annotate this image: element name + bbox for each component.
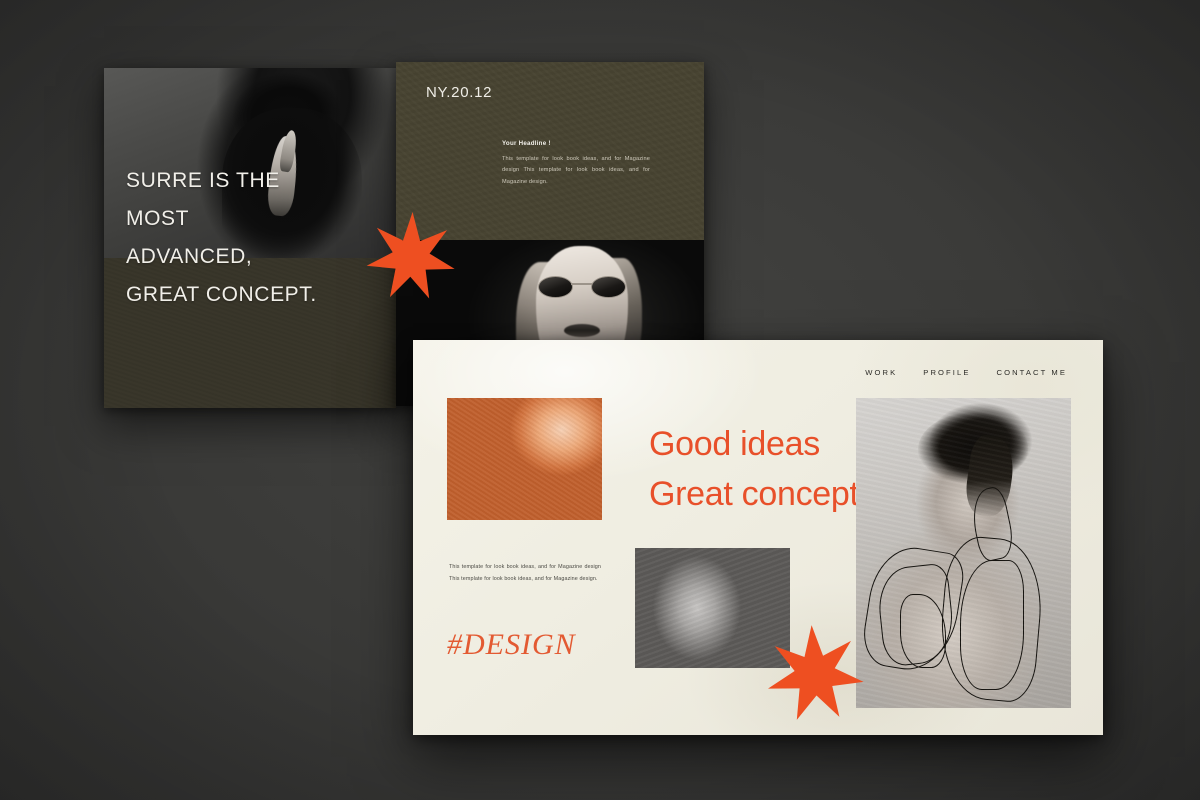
slide-portfolio[interactable]: WORK PROFILE CONTACT ME Good ideas Great… (413, 340, 1103, 735)
top-navigation[interactable]: WORK PROFILE CONTACT ME (865, 368, 1067, 377)
copy-block: Your Headline ! This template for look b… (502, 140, 650, 188)
lens-right (591, 276, 626, 298)
cover-photo (104, 68, 396, 258)
lips-shape (564, 324, 600, 337)
copy-headline: Your Headline ! (502, 140, 650, 147)
portfolio-body-copy: This template for look book ideas, and f… (449, 562, 601, 586)
sunglasses-icon (538, 276, 626, 296)
nav-item-work[interactable]: WORK (865, 368, 897, 377)
body-line-3 (935, 534, 1047, 704)
nav-item-profile[interactable]: PROFILE (923, 368, 970, 377)
lens-bridge (571, 283, 593, 285)
orange-duotone-photo (447, 398, 602, 520)
nav-item-contact-me[interactable]: CONTACT ME (997, 368, 1068, 377)
body-line-5 (967, 485, 1017, 563)
hashtag-design: #DESIGN (447, 628, 576, 662)
slide-label: NY.20.12 (426, 84, 492, 101)
hair-strand-shape (963, 433, 1018, 518)
body-line-1 (859, 542, 967, 677)
copy-body: This template for look book ideas, and f… (502, 154, 650, 188)
greyscale-woman-photo (635, 548, 790, 668)
body-line-6 (900, 594, 946, 668)
olive-panel (104, 258, 396, 408)
lens-left (538, 276, 573, 298)
slide-cover[interactable]: SURRE IS THE MOST ADVANCED, GREAT CONCEP… (104, 68, 396, 408)
greyscale-man-photo (856, 398, 1071, 708)
body-line-4 (960, 560, 1024, 690)
body-line-2 (875, 563, 957, 668)
hair-mass-shape (918, 412, 1028, 484)
